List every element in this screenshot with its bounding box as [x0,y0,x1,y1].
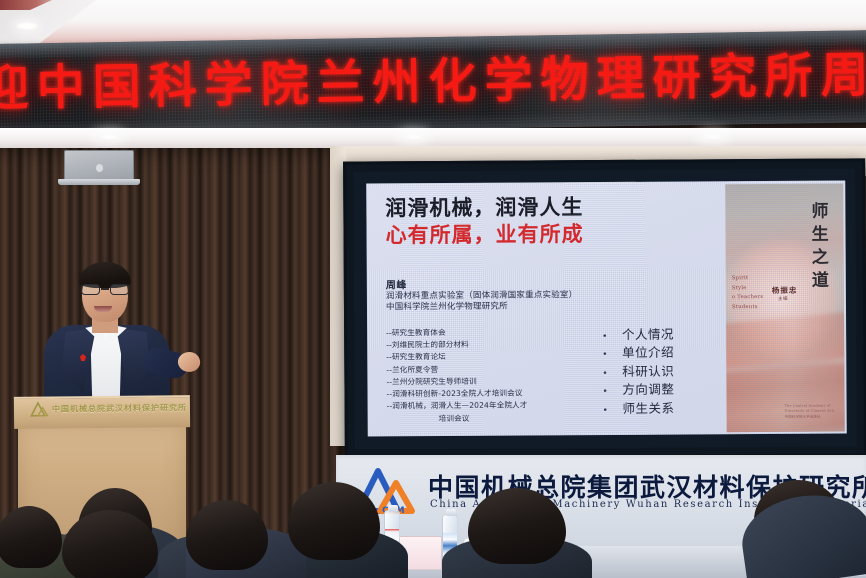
talk-history-list: --研究生教育体会 --刘维民院士的部分材料 --研究生教育论坛 --兰化所夏令… [386,326,593,437]
agenda-list: • 个人情况 • 单位介绍 • 科研认识 [598,325,721,437]
book-publisher: The Central Academy of University of Chi… [785,403,835,420]
agenda-item-label: 个人情况 [622,325,674,344]
agenda-item: • 科研认识 [602,362,720,381]
bottle-cap [388,505,398,512]
laptop-lid [64,150,134,181]
podium-nameplate-text: 中国机械总院武汉材料保护研究所 [52,402,182,414]
spotlight-icon [96,133,122,141]
agenda-item-label: 师生关系 [622,399,674,418]
laptop-base [58,179,140,185]
agenda-item-label: 方向调整 [622,381,674,400]
presenter-affiliation-2: 中国科学院兰州化学物理研究所 [386,300,720,314]
bullet-icon: • [603,407,609,416]
bullet-icon: • [602,370,608,379]
presenter-block: 周峰 润滑材料重点实验室（固体润滑国家重点实验室） 中国科学院兰州化学物理研究所 [386,274,720,314]
agenda-item: • 方向调整 [602,380,720,399]
talk-list-item-continuation: 培训会议 [387,412,593,426]
laptop-logo-icon [96,164,103,172]
ceiling-light-icon [16,22,38,30]
agenda-item: • 个人情况 [602,325,720,344]
presentation-slide: 润滑机械，润滑人生 心有所属，业有所成 周峰 润滑材料重点实验室（固体润滑国家重… [366,181,847,437]
agenda-item: • 师生关系 [603,399,721,418]
spotlight-icon [400,133,426,141]
bullet-icon: • [602,351,608,360]
book-english-text: Spirit Style o Teachers Students [732,274,764,313]
led-banner-text: 迎中国科学院兰州化学物理研究所周峰 [0,44,866,120]
projection-screen: 润滑机械，润滑人生 心有所属，业有所成 周峰 润滑材料重点实验室（固体润滑国家重… [343,158,866,459]
book-author-role: 主编 [778,296,788,302]
slide-left-column: 润滑机械，润滑人生 心有所属，业有所成 周峰 润滑材料重点实验室（固体润滑国家重… [366,181,727,436]
spotlight-icon [700,133,726,141]
book-title: 师生之道 [805,202,831,294]
led-welcome-banner: 迎中国科学院兰州化学物理研究所周峰 [0,30,866,136]
agenda-item-label: 科研认识 [622,362,674,381]
book-cover-image: 师生之道 Spirit Style o Teachers Students 杨振… [725,184,845,433]
conference-hall-scene: 迎中国科学院兰州化学物理研究所周峰 润滑机械，润滑人生 心有所属，业有所成 周峰… [0,0,866,578]
agenda-item: • 单位介绍 [602,343,720,362]
book-author: 杨振忠 [772,285,798,296]
screen-bezel: 润滑机械，润滑人生 心有所属，业有所成 周峰 润滑材料重点实验室（固体润滑国家重… [353,168,857,449]
bullet-icon: • [602,333,608,342]
slide-title-sub: 心有所属，业有所成 [385,221,719,248]
agenda-item-label: 单位介绍 [622,344,674,363]
glasses-icon [80,284,130,295]
talk-list-ellipsis: ...... [387,429,593,436]
slide-title-main: 润滑机械，润滑人生 [385,195,719,221]
slide-right-column: 师生之道 Spirit Style o Teachers Students 杨振… [725,184,845,433]
podium-logo-icon [30,401,50,417]
slide-body: --研究生教育体会 --刘维民院士的部分材料 --研究生教育论坛 --兰化所夏令… [386,325,721,437]
bullet-icon: • [602,388,608,397]
bottle-cap [446,509,456,516]
laptop [58,150,140,186]
